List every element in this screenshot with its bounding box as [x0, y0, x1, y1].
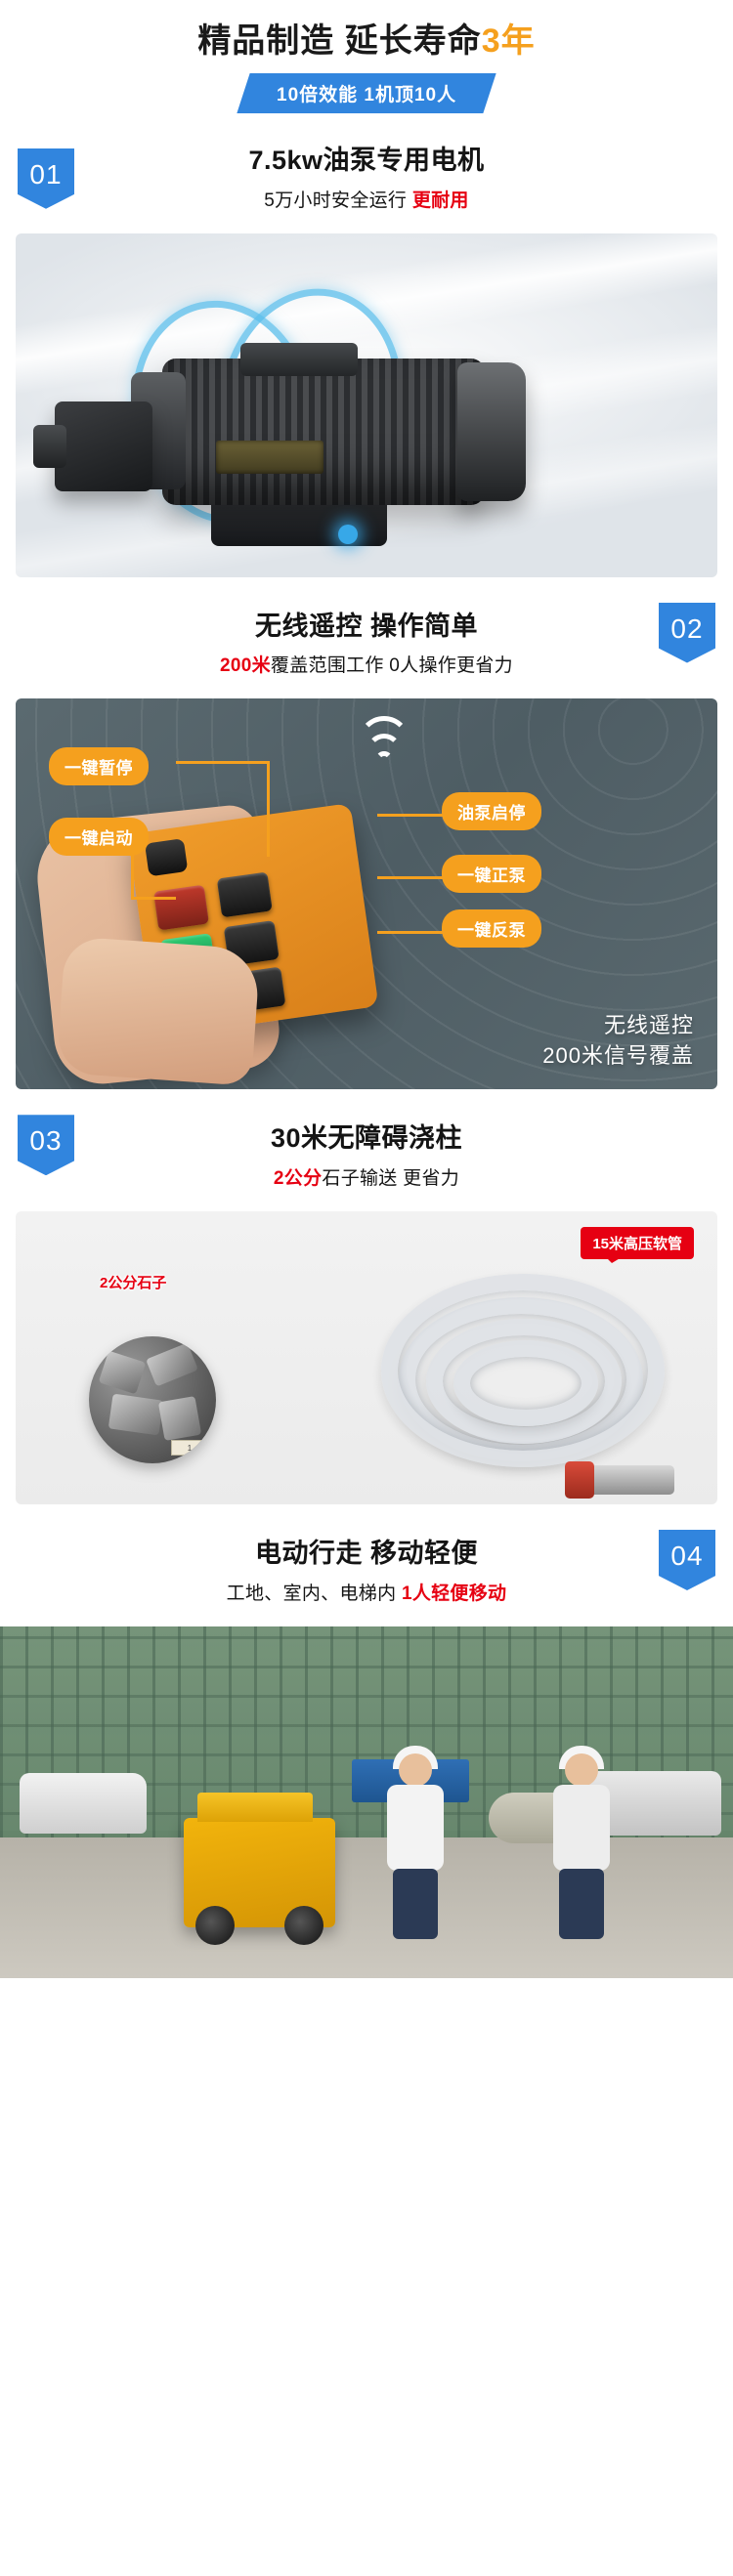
section-03-subtitle-plain: 石子输送 更省力 [322, 1168, 459, 1189]
remote-button-pump-toggle [217, 872, 273, 918]
callout-leader-line [267, 761, 270, 857]
worker-legs [393, 1869, 438, 1939]
hand-graphic-lower [56, 936, 260, 1086]
section-04-titles: 电动行走 移动轻便 工地、室内、电梯内 1人轻便移动 [0, 1538, 733, 1605]
scale-ruler: 1 2 [171, 1440, 216, 1456]
section-03-title: 30米无障碍浇柱 [0, 1122, 733, 1156]
section-03-image: 2公分石子 1 2 15米高压软管 [16, 1211, 717, 1504]
section-02-subtitle-plain: 覆盖范围工作 0人操作更省力 [271, 655, 513, 676]
overlay-line-1: 无线遥控 [542, 1010, 694, 1041]
label-hose-length: 15米高压软管 [581, 1227, 694, 1259]
section-04-title: 电动行走 移动轻便 [0, 1538, 733, 1571]
section-01-title: 7.5kw油泵专用电机 [0, 145, 733, 178]
high-pressure-hose-photo [375, 1268, 698, 1488]
product-detail-page: 精品制造 延长寿命3年 10倍效能 1机顶10人 01 7.5kw油泵专用电机 … [0, 0, 733, 1988]
page-title-main: 精品制造 延长寿命 [197, 22, 481, 60]
remote-button-stop [153, 885, 209, 931]
section-02-subtitle: 200米覆盖范围工作 0人操作更省力 [0, 651, 733, 677]
motor-rear-cap [457, 362, 526, 501]
callout-leader-line [131, 897, 176, 900]
callout-reverse-pump: 一键反泵 [442, 909, 541, 948]
hose-coupler [581, 1465, 674, 1495]
worker-head [565, 1753, 598, 1787]
page-title-accent: 3年 [482, 22, 536, 60]
callout-pause: 一键暂停 [49, 747, 149, 785]
motor-terminal-box [240, 343, 358, 376]
stone-sample-photo: 1 2 [89, 1336, 216, 1463]
callout-leader-line [377, 931, 444, 934]
section-02-title: 无线遥控 操作简单 [0, 611, 733, 644]
remote-selector-knob [145, 838, 188, 876]
wireless-signal-icon [354, 726, 414, 771]
label-stone-size: 2公分石子 [100, 1272, 166, 1292]
page-header: 精品制造 延长寿命3年 10倍效能 1机顶10人 [0, 0, 733, 123]
motor-nameplate [216, 441, 323, 474]
ruler-mark-1: 1 [188, 1444, 192, 1453]
callout-leader-line [377, 814, 444, 817]
section-02-header: 02 无线遥控 操作简单 200米覆盖范围工作 0人操作更省力 [0, 577, 733, 692]
hose-end-cap [565, 1461, 594, 1499]
section-03-subtitle-highlight: 2公分 [274, 1168, 322, 1189]
section-02-image: 一键暂停 一键启动 油泵启停 一键正泵 一键反泵 无线遥控 200米信号覆盖 [16, 698, 717, 1089]
worker-legs [559, 1869, 604, 1939]
page-title: 精品制造 延长寿命3年 [0, 21, 733, 62]
motor-body [162, 359, 485, 505]
section-03-titles: 30米无障碍浇柱 2公分石子输送 更省力 [0, 1122, 733, 1190]
overlay-line-2: 200米信号覆盖 [542, 1040, 694, 1072]
callout-pump-toggle: 油泵启停 [442, 792, 541, 830]
worker-figure [547, 1753, 618, 1939]
worker-torso [387, 1785, 444, 1871]
worker-head [399, 1753, 432, 1787]
section-01-titles: 7.5kw油泵专用电机 5万小时安全运行 更耐用 [0, 145, 733, 212]
header-banner: 10倍效能 1机顶10人 [237, 73, 496, 113]
parked-van-left [20, 1773, 147, 1834]
callout-forward-pump: 一键正泵 [442, 855, 541, 893]
section-02-titles: 无线遥控 操作简单 200米覆盖范围工作 0人操作更省力 [0, 611, 733, 678]
callout-start: 一键启动 [49, 818, 149, 856]
callout-leader-line [176, 761, 270, 764]
section-01-image [16, 233, 717, 577]
header-banner-wrap: 10倍效能 1机顶10人 [0, 73, 733, 113]
oil-pump-block [55, 401, 152, 491]
section-04-image [0, 1626, 733, 1978]
section-04-subtitle: 工地、室内、电梯内 1人轻便移动 [0, 1579, 733, 1605]
section-04-header: 04 电动行走 移动轻便 工地、室内、电梯内 1人轻便移动 [0, 1504, 733, 1619]
header-banner-label: 10倍效能 1机顶10人 [277, 80, 456, 106]
concrete-pump-machine [184, 1818, 335, 1927]
callout-leader-line [377, 876, 444, 879]
indicator-light-icon [338, 525, 358, 544]
section-04-subtitle-plain: 工地、室内、电梯内 [227, 1584, 402, 1604]
machine-wheel [284, 1906, 323, 1945]
page-bottom-spacer [0, 1978, 733, 1988]
section-04-subtitle-highlight: 1人轻便移动 [402, 1584, 506, 1604]
section-01-subtitle: 5万小时安全运行 更耐用 [0, 186, 733, 212]
machine-hopper [197, 1793, 313, 1822]
section-01-subtitle-plain: 5万小时安全运行 [264, 190, 412, 211]
section-01-header: 01 7.5kw油泵专用电机 5万小时安全运行 更耐用 [0, 123, 733, 226]
oil-pump-port [33, 425, 66, 468]
motor-foot [211, 499, 387, 546]
section-02-overlay-text: 无线遥控 200米信号覆盖 [542, 1010, 694, 1073]
section-03-subtitle: 2公分石子输送 更省力 [0, 1163, 733, 1190]
section-03-header: 03 30米无障碍浇柱 2公分石子输送 更省力 [0, 1089, 733, 1204]
section-01-subtitle-highlight: 更耐用 [412, 190, 469, 211]
machine-wheel [195, 1906, 235, 1945]
section-02-subtitle-highlight: 200米 [220, 655, 271, 676]
callout-leader-line [131, 853, 134, 900]
ground-surface [0, 1837, 733, 1978]
worker-torso [553, 1785, 610, 1871]
worker-figure [381, 1753, 452, 1939]
